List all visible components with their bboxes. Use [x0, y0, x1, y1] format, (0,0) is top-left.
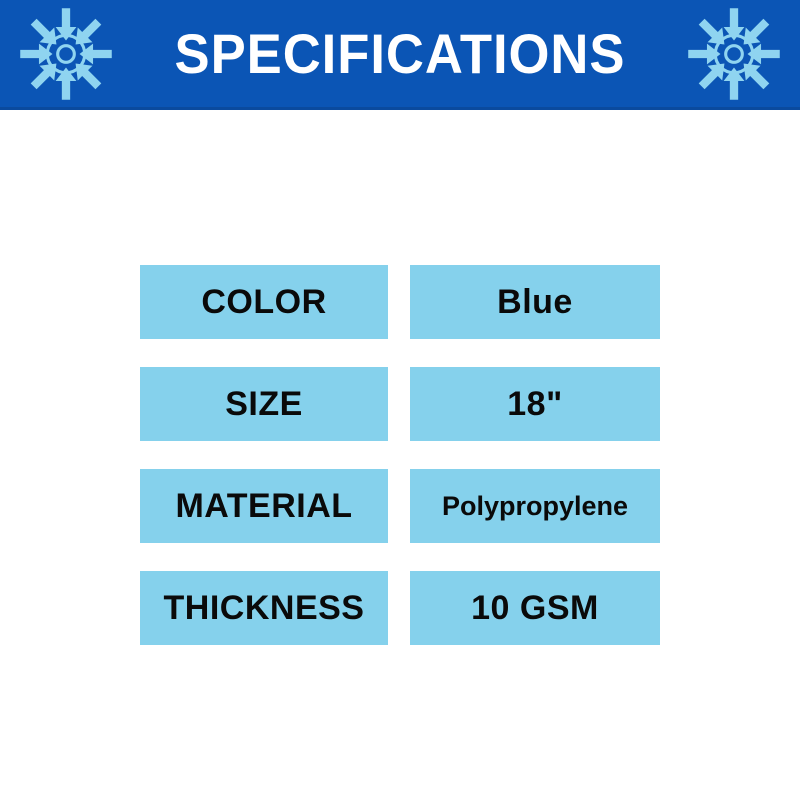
table-row: THICKNESS 10 GSM — [140, 571, 660, 645]
table-row: COLOR Blue — [140, 265, 660, 339]
radial-arrows-inward-icon — [682, 2, 786, 106]
page-title: SPECIFICATIONS — [135, 26, 665, 82]
specification-sheet: SPECIFICATIONS — [0, 0, 800, 800]
spec-label-size: SIZE — [140, 367, 388, 441]
radial-arrows-inward-icon — [14, 2, 118, 106]
spec-label-material: MATERIAL — [140, 469, 388, 543]
table-row: MATERIAL Polypropylene — [140, 469, 660, 543]
spec-value-thickness: 10 GSM — [410, 571, 660, 645]
spec-label-thickness: THICKNESS — [140, 571, 388, 645]
specifications-table: COLOR Blue SIZE 18" MATERIAL Polypropyle… — [140, 265, 660, 645]
spec-value-color: Blue — [410, 265, 660, 339]
spec-value-material: Polypropylene — [410, 469, 660, 543]
spec-label-color: COLOR — [140, 265, 388, 339]
header-banner: SPECIFICATIONS — [0, 0, 800, 110]
spec-value-size: 18" — [410, 367, 660, 441]
table-row: SIZE 18" — [140, 367, 660, 441]
